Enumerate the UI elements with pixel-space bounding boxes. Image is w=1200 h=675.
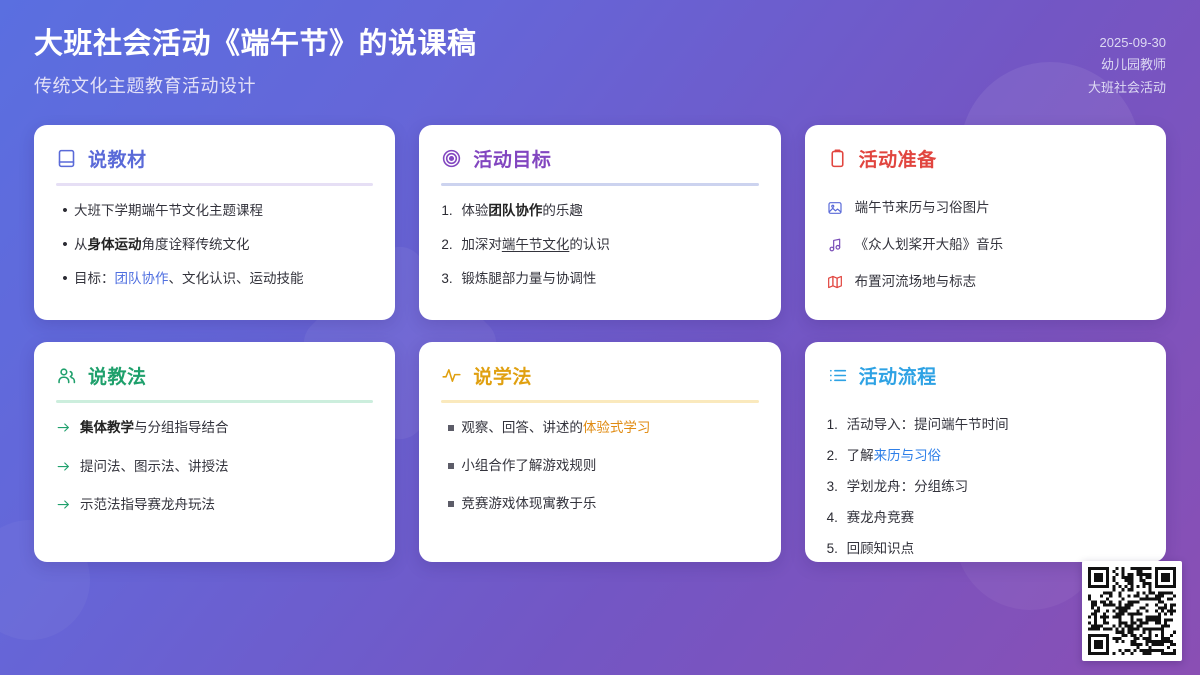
card-item-list: 1.活动导入：提问端午节时间2.了解来历与习俗3.学划龙舟：分组练习4.赛龙舟竞… (827, 415, 1144, 562)
card-activity-flow: 活动流程1.活动导入：提问端午节时间2.了解来历与习俗3.学划龙舟：分组练习4.… (805, 342, 1166, 562)
list-item-text: 《众人划桨开大船》音乐 (855, 235, 1144, 255)
list-item: 集体教学与分组指导结合 (56, 418, 373, 438)
list-item-text: 提问法、图示法、讲授法 (80, 457, 373, 477)
card-header: 说教材 (56, 145, 373, 172)
card-title: 说教法 (88, 362, 147, 389)
bullet-dot-icon: • (56, 235, 74, 255)
activity-pulse-icon (441, 365, 462, 386)
title-block: 大班社会活动《端午节》的说课稿 传统文化主题教育活动设计 (34, 26, 477, 98)
card-title: 活动准备 (859, 145, 937, 172)
header-meta: 2025-09-30 幼儿园教师 大班社会活动 (1088, 26, 1166, 99)
card-divider (56, 400, 373, 403)
book-icon (56, 148, 77, 169)
list-number: 2. (827, 446, 847, 466)
list-item: 3.锻炼腿部力量与协调性 (441, 269, 758, 289)
list-item-text: 活动导入：提问端午节时间 (847, 415, 1144, 435)
qr-code-image (1088, 567, 1176, 655)
card-item-list: 端午节来历与习俗图片《众人划桨开大船》音乐布置河流场地与标志 (827, 198, 1144, 309)
slide-header: 大班社会活动《端午节》的说课稿 传统文化主题教育活动设计 2025-09-30 … (0, 0, 1200, 99)
map-icon (827, 272, 855, 292)
card-teaching-method: 说教法集体教学与分组指导结合提问法、图示法、讲授法示范法指导赛龙舟玩法 (34, 342, 395, 562)
list-item: 2.加深对端午节文化的认识 (441, 235, 758, 255)
list-item: 1.活动导入：提问端午节时间 (827, 415, 1144, 435)
list-item-text: 加深对端午节文化的认识 (461, 235, 758, 255)
list-icon (827, 365, 848, 386)
page-title: 大班社会活动《端午节》的说课稿 (34, 26, 477, 62)
music-note-icon (827, 235, 855, 255)
list-item-text: 集体教学与分组指导结合 (80, 418, 373, 438)
card-item-list: 集体教学与分组指导结合提问法、图示法、讲授法示范法指导赛龙舟玩法 (56, 418, 373, 534)
card-item-list: 观察、回答、讲述的体验式学习小组合作了解游戏规则竞赛游戏体现寓教于乐 (441, 418, 758, 532)
list-number: 3. (441, 269, 461, 289)
slide-root: 大班社会活动《端午节》的说课稿 传统文化主题教育活动设计 2025-09-30 … (0, 0, 1200, 675)
meta-category: 大班社会活动 (1088, 77, 1166, 99)
list-number: 5. (827, 539, 847, 559)
list-item-text: 回顾知识点 (847, 539, 1144, 559)
card-teaching-material: 说教材•大班下学期端午节文化主题课程•从身体运动角度诠释传统文化•目标：团队协作… (34, 125, 395, 320)
list-item-text: 目标：团队协作、文化认识、运动技能 (74, 269, 373, 289)
list-item: 小组合作了解游戏规则 (441, 456, 758, 476)
list-item-text: 体验团队协作的乐趣 (461, 201, 758, 221)
list-item: 2.了解来历与习俗 (827, 446, 1144, 466)
list-item: 《众人划桨开大船》音乐 (827, 235, 1144, 255)
list-item-text: 布置河流场地与标志 (855, 272, 1144, 292)
list-item-text: 从身体运动角度诠释传统文化 (74, 235, 373, 255)
card-grid: 说教材•大班下学期端午节文化主题课程•从身体运动角度诠释传统文化•目标：团队协作… (34, 125, 1166, 562)
card-title: 说教材 (88, 145, 147, 172)
list-item-text: 锻炼腿部力量与协调性 (461, 269, 758, 289)
list-item: 5.回顾知识点 (827, 539, 1144, 559)
card-header: 活动流程 (827, 362, 1144, 389)
list-item-text: 学划龙舟：分组练习 (847, 477, 1144, 497)
list-item: •目标：团队协作、文化认识、运动技能 (56, 269, 373, 289)
qr-code[interactable] (1082, 561, 1182, 661)
list-item: 4.赛龙舟竞赛 (827, 508, 1144, 528)
meta-role: 幼儿园教师 (1088, 54, 1166, 76)
card-title: 活动流程 (859, 362, 937, 389)
card-header: 说教法 (56, 362, 373, 389)
target-icon (441, 148, 462, 169)
bullet-square-icon (441, 494, 461, 514)
card-header: 活动目标 (441, 145, 758, 172)
list-number: 4. (827, 508, 847, 528)
card-divider (56, 183, 373, 186)
list-item-text: 竞赛游戏体现寓教于乐 (461, 494, 758, 514)
list-item: 竞赛游戏体现寓教于乐 (441, 494, 758, 514)
card-item-list: •大班下学期端午节文化主题课程•从身体运动角度诠释传统文化•目标：团队协作、文化… (56, 201, 373, 303)
list-item-text: 大班下学期端午节文化主题课程 (74, 201, 373, 221)
card-title: 活动目标 (473, 145, 551, 172)
list-item: 端午节来历与习俗图片 (827, 198, 1144, 218)
clipboard-icon (827, 148, 848, 169)
list-item-text: 赛龙舟竞赛 (847, 508, 1144, 528)
list-number: 3. (827, 477, 847, 497)
list-item-text: 观察、回答、讲述的体验式学习 (461, 418, 758, 438)
card-divider (441, 183, 758, 186)
users-icon (56, 365, 77, 386)
list-item: 示范法指导赛龙舟玩法 (56, 495, 373, 515)
list-item: 提问法、图示法、讲授法 (56, 457, 373, 477)
card-item-list: 1.体验团队协作的乐趣2.加深对端午节文化的认识3.锻炼腿部力量与协调性 (441, 201, 758, 303)
list-item-text: 了解来历与习俗 (847, 446, 1144, 466)
list-item-text: 端午节来历与习俗图片 (855, 198, 1144, 218)
list-item: 布置河流场地与标志 (827, 272, 1144, 292)
meta-date: 2025-09-30 (1088, 32, 1166, 54)
list-item: 观察、回答、讲述的体验式学习 (441, 418, 758, 438)
bullet-dot-icon: • (56, 201, 74, 221)
card-learning-method: 说学法观察、回答、讲述的体验式学习小组合作了解游戏规则竞赛游戏体现寓教于乐 (419, 342, 780, 562)
list-item: 3.学划龙舟：分组练习 (827, 477, 1144, 497)
list-item-text: 示范法指导赛龙舟玩法 (80, 495, 373, 515)
list-number: 2. (441, 235, 461, 255)
bullet-dot-icon: • (56, 269, 74, 289)
image-icon (827, 198, 855, 218)
arrow-right-icon (56, 457, 80, 475)
list-number: 1. (441, 201, 461, 221)
card-header: 说学法 (441, 362, 758, 389)
bullet-square-icon (441, 456, 461, 476)
card-title: 说学法 (473, 362, 532, 389)
list-item-text: 小组合作了解游戏规则 (461, 456, 758, 476)
list-item: •大班下学期端午节文化主题课程 (56, 201, 373, 221)
card-header: 活动准备 (827, 145, 1144, 172)
list-item: 1.体验团队协作的乐趣 (441, 201, 758, 221)
bullet-square-icon (441, 418, 461, 438)
card-divider (441, 400, 758, 403)
card-activity-goals: 活动目标1.体验团队协作的乐趣2.加深对端午节文化的认识3.锻炼腿部力量与协调性 (419, 125, 780, 320)
list-item: •从身体运动角度诠释传统文化 (56, 235, 373, 255)
arrow-right-icon (56, 496, 80, 514)
page-subtitle: 传统文化主题教育活动设计 (34, 72, 477, 98)
card-activity-preparation: 活动准备端午节来历与习俗图片《众人划桨开大船》音乐布置河流场地与标志 (805, 125, 1166, 320)
list-number: 1. (827, 415, 847, 435)
arrow-right-icon (56, 419, 80, 437)
